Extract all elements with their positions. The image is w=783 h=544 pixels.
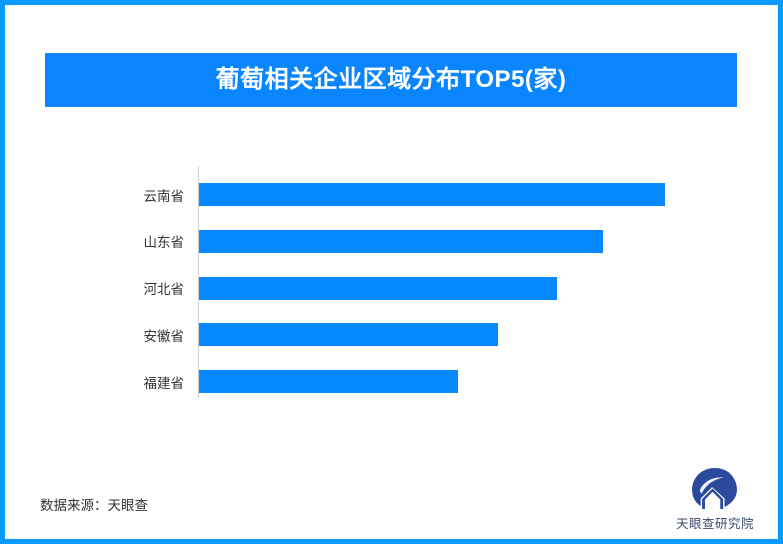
logo-text: 天眼查研究院 xyxy=(660,513,770,532)
category-label: 山东省 xyxy=(144,231,185,251)
bar-row: 福建省 xyxy=(198,370,738,393)
infographic-card: 葡萄相关企业区域分布TOP5(家) 云南省山东省河北省安徽省福建省 数据来源：天… xyxy=(0,0,783,544)
category-label: 河北省 xyxy=(144,278,185,298)
bar-1[interactable] xyxy=(199,183,665,206)
logo-block: 天眼查研究院 xyxy=(660,467,770,533)
eagle-logo-icon xyxy=(691,467,739,510)
bar-row: 山东省 xyxy=(198,230,738,253)
source-note: 数据来源：天眼查 xyxy=(40,494,148,514)
category-label: 福建省 xyxy=(144,372,185,392)
category-label: 云南省 xyxy=(144,185,185,205)
bar-2[interactable] xyxy=(199,230,603,253)
bar-chart: 云南省山东省河北省安徽省福建省 xyxy=(5,155,778,405)
title-banner: 葡萄相关企业区域分布TOP5(家) xyxy=(45,53,737,107)
bar-5[interactable] xyxy=(199,370,458,393)
bar-row: 安徽省 xyxy=(198,323,738,346)
plot-area: 云南省山东省河北省安徽省福建省 xyxy=(198,166,738,398)
bar-3[interactable] xyxy=(199,277,557,300)
bar-4[interactable] xyxy=(199,323,498,346)
page-title: 葡萄相关企业区域分布TOP5(家) xyxy=(216,68,567,92)
bar-row: 云南省 xyxy=(198,183,738,206)
bar-row: 河北省 xyxy=(198,277,738,300)
category-label: 安徽省 xyxy=(144,325,185,345)
